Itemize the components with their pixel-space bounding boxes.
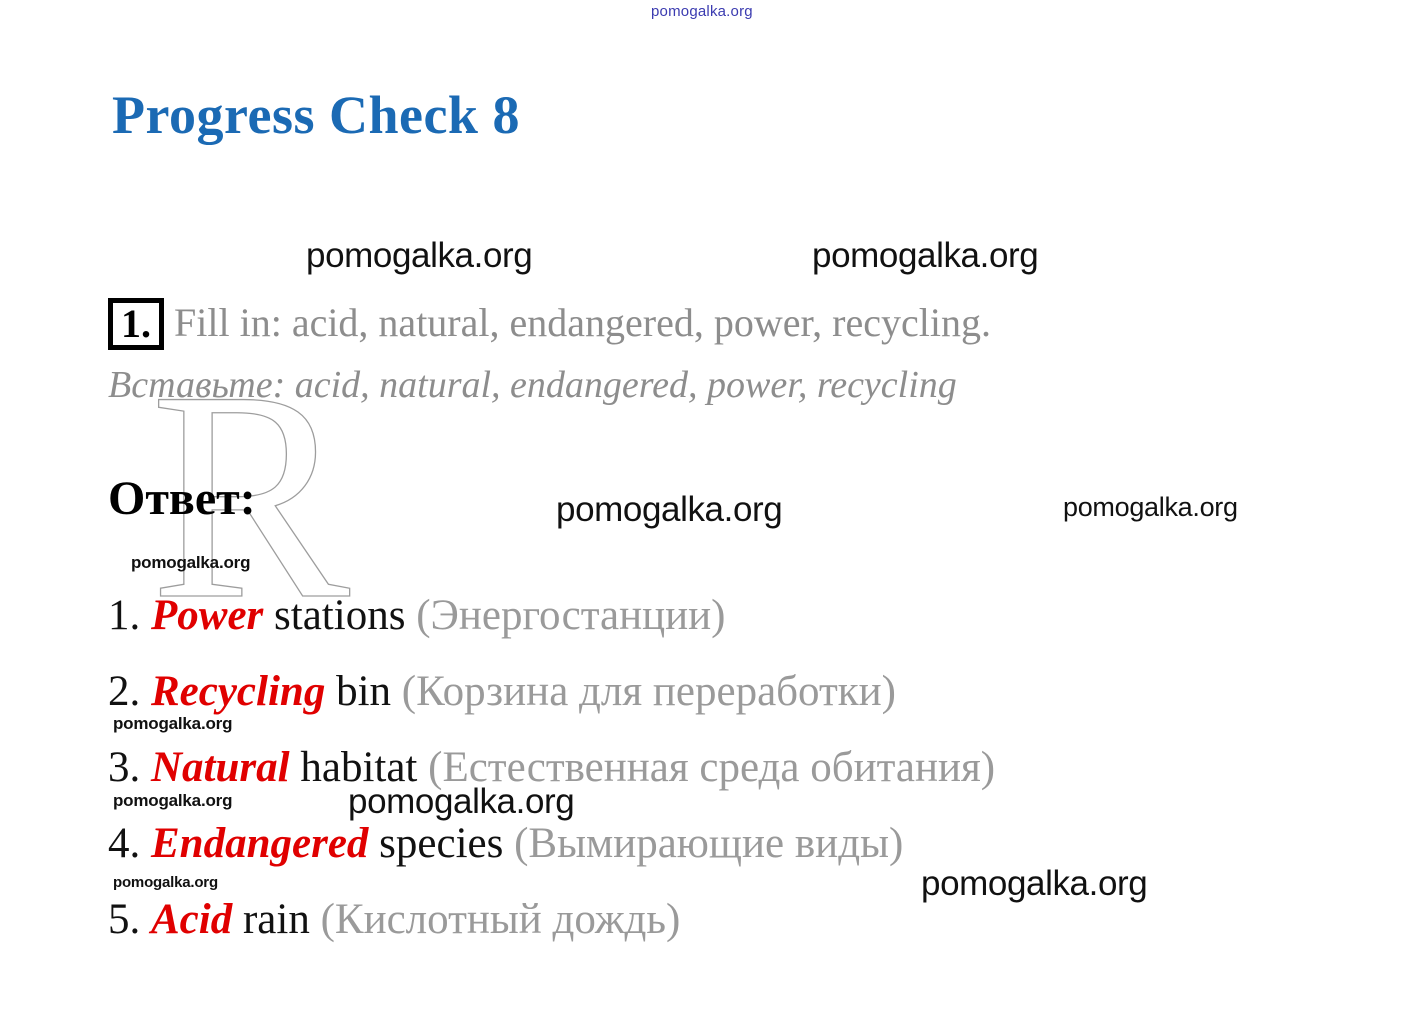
answer-keyword: Natural — [151, 744, 290, 791]
answer-translation: (Энергостанции) — [416, 592, 725, 639]
task-number-box: 1. — [108, 298, 164, 350]
answer-item: 2. Recycling bin (Корзина для переработк… — [108, 654, 1398, 730]
answer-keyword: Acid — [151, 896, 232, 943]
answer-translation: (Кислотный дождь) — [321, 896, 681, 943]
answer-list: 1. Power stations (Энергостанции) 2. Rec… — [108, 578, 1398, 958]
document-page: R Progress Check 8 1. Fill in: acid, nat… — [0, 0, 1428, 1010]
watermark-text: pomogalka.org — [651, 3, 753, 20]
answer-number: 4. — [108, 820, 140, 867]
answer-rest: bin — [336, 668, 391, 715]
task-prompt-english-row: 1. Fill in: acid, natural, endangered, p… — [108, 296, 1298, 350]
answer-translation: (Вымирающие виды) — [514, 820, 903, 867]
task-prompt-russian: Вставьте: acid, natural, endangered, pow… — [108, 366, 1298, 406]
answer-item: 4. Endangered species (Вымирающие виды) — [108, 806, 1398, 882]
answer-item: 3. Natural habitat (Естественная среда о… — [108, 730, 1398, 806]
watermark-text: pomogalka.org — [131, 553, 250, 573]
answer-number: 3. — [108, 744, 140, 791]
answer-translation: (Корзина для переработки) — [402, 668, 896, 715]
answer-number: 5. — [108, 896, 140, 943]
watermark-text: pomogalka.org — [306, 236, 532, 276]
answer-translation: (Естественная среда обитания) — [428, 744, 995, 791]
answer-rest: habitat — [300, 744, 417, 791]
answer-number: 2. — [108, 668, 140, 715]
answer-rest: stations — [274, 592, 405, 639]
answer-number: 1. — [108, 592, 140, 639]
answer-item: 5. Acid rain (Кислотный дождь) — [108, 882, 1398, 958]
task-prompt-english: Fill in: acid, natural, endangered, powe… — [174, 296, 991, 344]
answer-item: 1. Power stations (Энергостанции) — [108, 578, 1398, 654]
answer-keyword: Endangered — [151, 820, 368, 867]
answer-rest: species — [379, 820, 503, 867]
answer-rest: rain — [243, 896, 310, 943]
page-title: Progress Check 8 — [112, 88, 520, 142]
answer-keyword: Power — [151, 592, 263, 639]
answer-keyword: Recycling — [151, 668, 325, 715]
watermark-text: pomogalka.org — [812, 236, 1038, 276]
watermark-text: pomogalka.org — [1063, 492, 1238, 523]
answer-heading: Ответ: — [108, 475, 256, 523]
watermark-text: pomogalka.org — [556, 490, 782, 530]
task-block: 1. Fill in: acid, natural, endangered, p… — [108, 296, 1298, 406]
